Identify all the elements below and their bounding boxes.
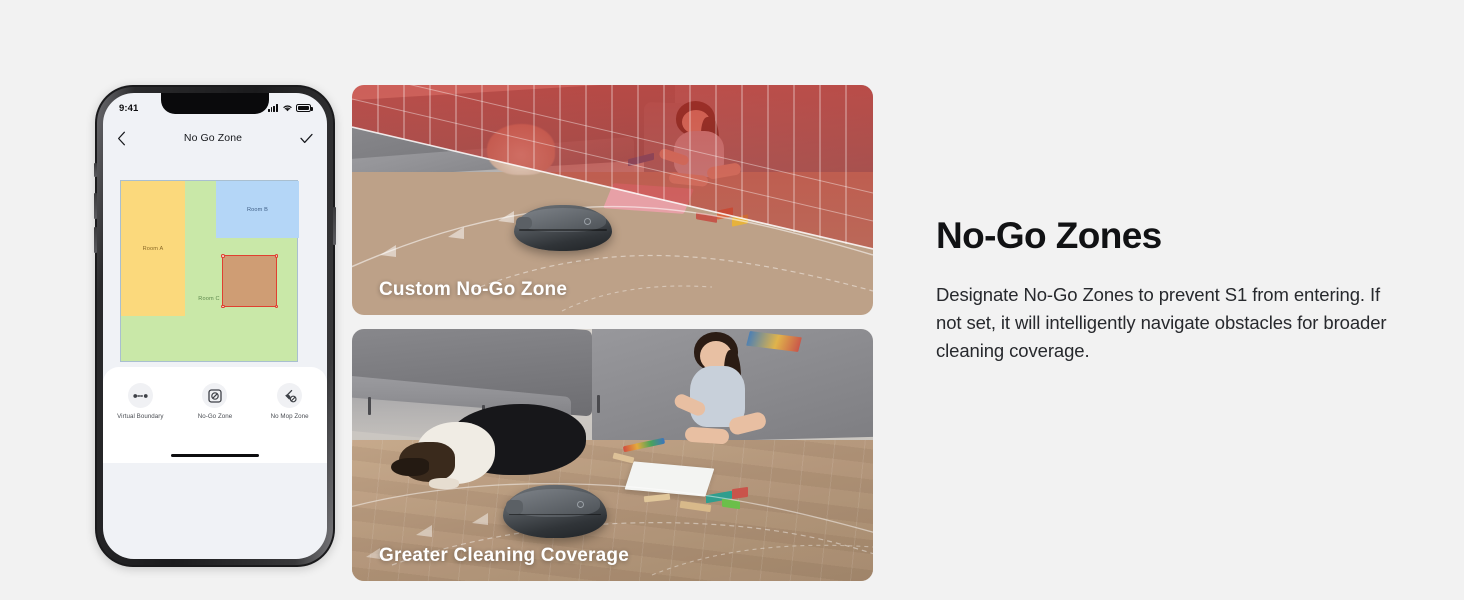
sofa-leg bbox=[597, 395, 600, 413]
child-figure bbox=[644, 101, 759, 211]
phone-volume-down-button[interactable] bbox=[94, 227, 97, 253]
resize-handle-bottom-right[interactable] bbox=[275, 305, 279, 309]
robot-vacuum bbox=[514, 205, 613, 251]
floor-plan[interactable]: Room A Room B Room C bbox=[120, 180, 298, 362]
map-room-b[interactable]: Room B bbox=[216, 181, 299, 238]
feature-description: Designate No-Go Zones to prevent S1 from… bbox=[936, 281, 1406, 365]
virtual-boundary-icon bbox=[128, 383, 153, 408]
no-mop-zone-icon bbox=[277, 383, 302, 408]
tool-no-mop-zone-label: No Mop Zone bbox=[271, 413, 309, 420]
pet-under-sofa bbox=[487, 124, 555, 175]
room-a-label: Room A bbox=[143, 246, 164, 252]
promo-page: 9:41 No bbox=[0, 0, 1464, 600]
no-go-zone-icon bbox=[202, 383, 227, 408]
resize-handle-bottom-left[interactable] bbox=[221, 305, 225, 309]
robot-vacuum bbox=[503, 485, 607, 538]
nogo-zone-rectangle[interactable] bbox=[222, 255, 277, 307]
room-c-label: Room C bbox=[198, 296, 219, 302]
page-title: No Go Zone bbox=[184, 132, 242, 144]
sofa-leg bbox=[368, 397, 371, 415]
photo-card-custom-no-go-zone: Custom No-Go Zone bbox=[352, 85, 873, 315]
checkmark-icon[interactable] bbox=[300, 133, 313, 144]
phone-mockup: 9:41 No bbox=[95, 85, 335, 567]
map-tool-bar: Virtual Boundary No-Go Zone bbox=[103, 367, 327, 463]
toy-block bbox=[732, 487, 748, 499]
home-indicator[interactable] bbox=[171, 454, 259, 457]
cellular-signal-icon bbox=[268, 104, 278, 112]
photo-caption: Greater Cleaning Coverage bbox=[379, 545, 629, 567]
photo-card-stack: Custom No-Go Zone bbox=[352, 85, 873, 581]
scene-living-room-with-dog bbox=[352, 329, 873, 581]
map-room-a[interactable]: Room A bbox=[121, 181, 185, 316]
tool-no-go-zone-label: No-Go Zone bbox=[198, 413, 233, 420]
dog-paw bbox=[429, 478, 459, 489]
chevron-left-icon[interactable] bbox=[117, 131, 126, 146]
app-navbar: No Go Zone bbox=[103, 123, 327, 153]
dog-snout bbox=[391, 458, 429, 476]
tool-virtual-boundary-label: Virtual Boundary bbox=[117, 413, 163, 420]
resize-handle-top-right[interactable] bbox=[275, 254, 279, 258]
photo-card-greater-cleaning-coverage: Greater Cleaning Coverage bbox=[352, 329, 873, 581]
child-figure bbox=[665, 332, 780, 483]
dog-figure bbox=[399, 402, 587, 493]
phone-volume-up-button[interactable] bbox=[94, 193, 97, 219]
wifi-icon bbox=[282, 104, 293, 112]
robot-lid bbox=[510, 489, 600, 517]
battery-icon bbox=[296, 104, 311, 112]
feature-headline: No-Go Zones bbox=[936, 216, 1406, 257]
tool-virtual-boundary[interactable]: Virtual Boundary bbox=[107, 383, 173, 420]
phone-power-button[interactable] bbox=[333, 207, 336, 245]
phone-mute-switch[interactable] bbox=[94, 163, 97, 177]
robot-sensor-bump bbox=[516, 217, 532, 229]
photo-caption: Custom No-Go Zone bbox=[379, 279, 567, 301]
resize-handle-top-left[interactable] bbox=[221, 254, 225, 258]
phone-screen: 9:41 No bbox=[103, 93, 327, 559]
tool-no-go-zone[interactable]: No-Go Zone bbox=[182, 383, 248, 420]
phone-notch bbox=[161, 93, 269, 114]
robot-seam bbox=[519, 229, 606, 231]
status-time: 9:41 bbox=[119, 103, 138, 114]
child-leg bbox=[685, 427, 729, 445]
room-b-label: Room B bbox=[247, 207, 268, 213]
phone-frame: 9:41 No bbox=[95, 85, 335, 567]
robot-sensor-bump bbox=[506, 500, 523, 514]
map-canvas[interactable]: Room A Room B Room C bbox=[103, 153, 327, 463]
feature-copy: No-Go Zones Designate No-Go Zones to pre… bbox=[936, 216, 1406, 365]
tool-no-mop-zone[interactable]: No Mop Zone bbox=[257, 383, 323, 420]
